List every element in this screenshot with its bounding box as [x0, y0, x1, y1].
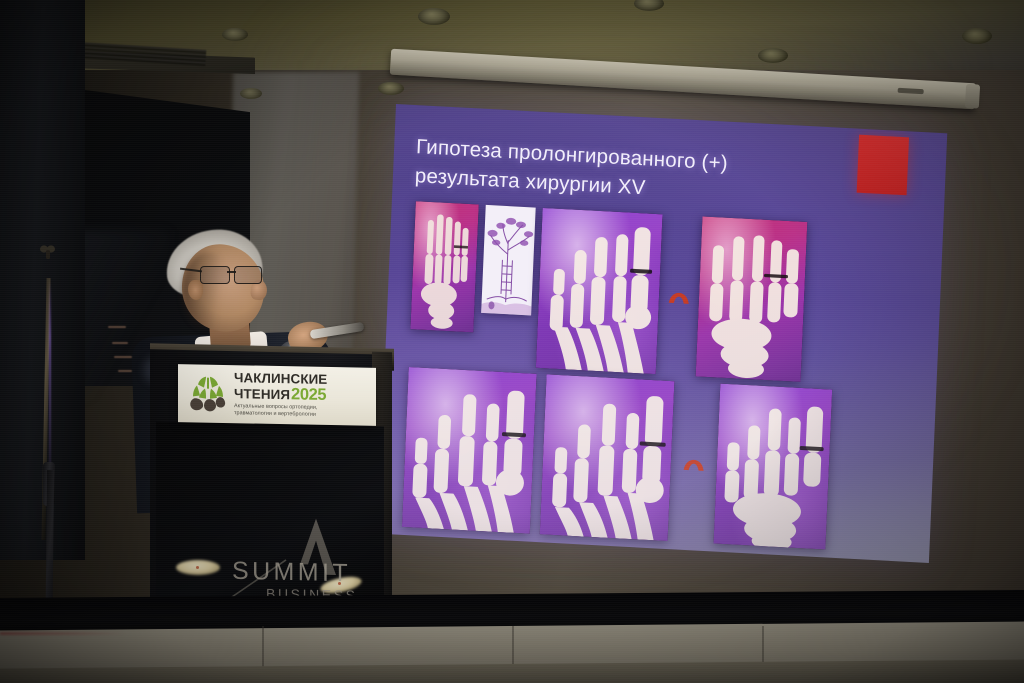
- forefoot-bones-graphic: [402, 367, 537, 534]
- slide-image-row-bottom: [402, 367, 832, 549]
- tree-with-splint-graphic: [481, 205, 536, 316]
- slide-title: Гипотеза пролонгированного (+) результат…: [414, 133, 856, 214]
- presentation-slide: Гипотеза пролонгированного (+) результат…: [378, 104, 948, 563]
- forefoot-xray-followup-1: [402, 367, 537, 534]
- conference-banner: ЧАКЛИНСКИЕ ЧТЕНИЯ 2025 Актуальные вопрос…: [178, 364, 376, 426]
- conference-photo-scene: Гипотеза пролонгированного (+) результат…: [0, 0, 1024, 683]
- roller-label: [898, 88, 924, 95]
- slide-accent-block: [857, 135, 909, 196]
- arrow-arc-bottom: [681, 451, 708, 474]
- banner-year: 2025: [291, 386, 326, 404]
- foot-bones-graphic: [410, 201, 478, 332]
- foot-xray-dorsal-postop: [696, 216, 808, 381]
- ceiling-spotlight-icon: [222, 28, 248, 41]
- microphone-clip-icon: [38, 244, 58, 260]
- forefoot-bones-graphic: [540, 374, 675, 541]
- chaklin-readings-logo-icon: [184, 372, 230, 415]
- foot-bones-postop-graphic: [696, 216, 808, 381]
- venue-logo-word-1: SUMMIT: [232, 557, 351, 588]
- eyeglasses-icon: [200, 266, 264, 283]
- ceiling-spotlight-icon: [418, 8, 450, 25]
- forefoot-xray-toes-preop: [536, 208, 663, 374]
- ceiling-spotlight-icon: [962, 28, 992, 44]
- tree-support-illustration: [481, 205, 536, 316]
- banner-subtitle: Актуальные вопросы ортопедии, травматоло…: [234, 403, 370, 420]
- wall-glint: [112, 342, 128, 344]
- ceiling-spotlight-icon: [378, 82, 404, 95]
- forefoot-bones-graphic: [536, 208, 663, 374]
- projection-screen: Гипотеза пролонгированного (+) результат…: [378, 104, 948, 563]
- banner-subtitle-line-2: травматологии и вертебрологии: [234, 410, 370, 420]
- red-arc-arrow-icon: [666, 284, 693, 307]
- foot-xray-followup-3: [714, 384, 833, 550]
- eyeglass-lens-left: [200, 266, 230, 284]
- eyeglass-bridge: [227, 271, 236, 273]
- wall-glint: [118, 370, 132, 372]
- ceiling-spotlight-icon: [758, 48, 788, 63]
- reflection-glint: [196, 566, 199, 569]
- arrow-arc-top: [666, 284, 693, 307]
- red-arc-arrow-icon: [681, 451, 708, 474]
- stand-edge-light: [49, 280, 51, 470]
- forefoot-xray-followup-2: [540, 374, 675, 541]
- wall-glint: [108, 326, 126, 328]
- foot-xray-dorsal-preop: [410, 201, 478, 332]
- eyeglass-lens-right: [234, 266, 262, 284]
- ceiling-spotlight-icon: [240, 88, 262, 99]
- wall-glint: [114, 356, 132, 358]
- banner-title-word-1: ЧАКЛИНСКИЕ: [234, 371, 327, 386]
- roller-end-cap: [965, 84, 980, 109]
- floor-red-line: [0, 632, 126, 635]
- banner-title-word-2: ЧТЕНИЯ: [234, 387, 290, 402]
- foot-bones-graphic: [714, 384, 833, 550]
- banner-title-line-2: ЧТЕНИЯ 2025: [234, 385, 370, 404]
- slide-image-row-top: [409, 201, 807, 382]
- banner-text-block: ЧАКЛИНСКИЕ ЧТЕНИЯ 2025 Актуальные вопрос…: [234, 371, 370, 420]
